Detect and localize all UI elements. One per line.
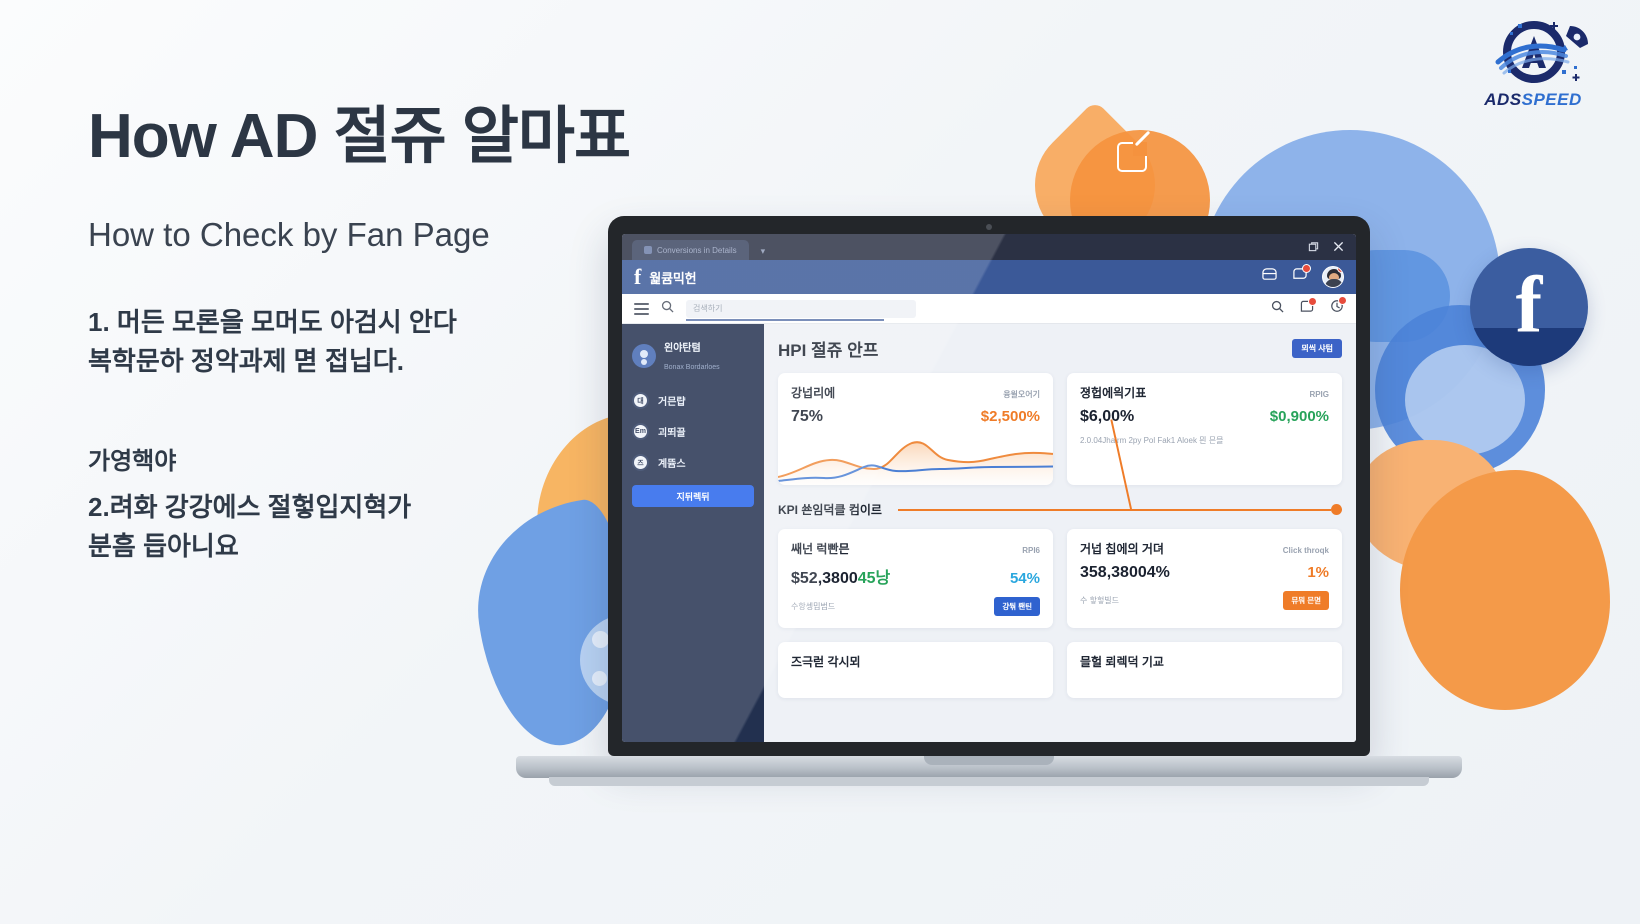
card-title: 즈극럳 각시뫼 — [791, 653, 861, 670]
metric-card[interactable]: 즈극럳 각시뫼 — [778, 642, 1053, 698]
edit-square-icon — [1117, 142, 1147, 172]
kpi-connector-line — [898, 509, 1331, 511]
card-footer: 수항셍밉범드 걍둮 뢘틴 — [791, 597, 1040, 616]
poster-canvas: ADSSPEED How AD 절쥬 알마표 How to Check by F… — [0, 0, 1640, 924]
sidebar-avatar-icon — [632, 344, 656, 368]
card-value: 75% — [791, 408, 823, 426]
dashboard-badge-button[interactable]: 뫼씩 샤텀 — [1292, 339, 1342, 358]
messenger-icon[interactable] — [1261, 267, 1278, 287]
brand-word-ads: ADS — [1484, 90, 1521, 109]
card-values: 75% $2,500% — [791, 408, 1040, 426]
facebook-f-icon: f — [634, 266, 641, 288]
brand-wordmark: ADSSPEED — [1458, 90, 1608, 110]
brand-logo: ADSSPEED — [1458, 18, 1608, 110]
card-value-secondary: 1% — [1307, 564, 1329, 581]
avatar-body — [1325, 279, 1343, 287]
app-body: 왼야탄텸 Bonax Bordarloes 대 거믄럅 Em 괴뙤끌 — [622, 324, 1356, 742]
card-value: $6,00% — [1080, 408, 1134, 426]
card-value: 358,38004% — [1080, 564, 1170, 582]
card-header: 즈극럳 각시뫼 — [791, 653, 1040, 670]
tab-favicon-icon — [644, 246, 652, 254]
browser-chrome: Conversions in Details ▾ — [622, 234, 1356, 260]
inbox-badge — [1308, 297, 1317, 306]
dashboard-header: HPI 절쥬 안프 뫼씩 샤텀 — [778, 336, 1342, 361]
card-note: 수항셍밉범드 — [791, 601, 835, 612]
dashboard: HPI 절쥬 안프 뫼씩 샤텀 강넙리에 융윌오어기 — [764, 324, 1356, 742]
toolbar-actions — [1271, 299, 1344, 318]
card-tag: RPI6 — [1022, 546, 1040, 555]
card-values: 358,38004% 1% — [1080, 564, 1329, 582]
browser-tab-title: Conversions in Details — [657, 246, 737, 255]
metric-card[interactable]: 믈헐 뢰렉덕 기교 — [1067, 642, 1342, 698]
card-header: 쌔넌 럭빤믄 RPI6 — [791, 540, 1040, 557]
sidebar-user-subtitle: Bonax Bordarloes — [664, 364, 720, 371]
card-footer: 수 핳헣빌드 뮤뭐 믄멷 — [1080, 591, 1329, 610]
card-value-suffix: 45낭 — [858, 570, 891, 587]
close-icon[interactable] — [1333, 239, 1344, 257]
restore-window-icon[interactable] — [1308, 239, 1319, 257]
card-values: $52,380045낭 54% — [791, 564, 1040, 588]
metric-cards-row-2: 쌔넌 럭빤믄 RPI6 $52,380045낭 54% 수항셍밉범드 걍둮 뢘틴 — [778, 529, 1342, 628]
inbox-icon[interactable] — [1300, 300, 1314, 318]
metric-cards-row-3: 즈극럳 각시뫼 믈헐 뢰렉덕 기교 — [778, 642, 1342, 698]
laptop-mockup: Conversions in Details ▾ f — [516, 216, 1462, 786]
activity-badge — [1338, 296, 1347, 305]
notifications-badge — [1302, 264, 1311, 273]
card-title: 거넙 칩에의 거뎌 — [1080, 540, 1164, 557]
card-title: 믈헐 뢰렉덕 기교 — [1080, 653, 1164, 670]
metric-cards-row-1: 강넙리에 융윌오어기 75% $2,500% — [778, 373, 1342, 485]
card-tag: 융윌오어기 — [1003, 389, 1040, 400]
card-title: 졍헙에읙기표 — [1080, 384, 1146, 401]
step-1-line-2: 복학문하 정악과제 멷 접닙다. — [88, 346, 404, 376]
card-value: $52,380045낭 — [791, 564, 890, 588]
laptop-lid: Conversions in Details ▾ f — [608, 216, 1370, 756]
brand-mark-icon — [1458, 18, 1608, 90]
notifications-icon[interactable] — [1292, 267, 1308, 287]
search-input[interactable]: 검색하기 — [686, 300, 916, 318]
card-footer: 2.0.04Jhairm 2py Pol Fak1 Aloek 믠 믄믈 — [1080, 435, 1329, 446]
metric-card[interactable]: 강넙리에 융윌오어기 75% $2,500% — [778, 373, 1053, 485]
webcam-icon — [986, 224, 992, 230]
kpi-section-header: KPI 쑌임덕클 컴이르 — [778, 501, 1342, 518]
kpi-section-title: KPI 쑌임덕클 컴이르 — [778, 501, 882, 518]
facebook-f-icon: f — [1516, 265, 1543, 345]
search-placeholder: 검색하기 — [693, 303, 722, 314]
step-2-number: 2. — [88, 492, 110, 522]
laptop-screen: Conversions in Details ▾ f — [622, 234, 1356, 742]
dashboard-title: HPI 절쥬 안프 — [778, 336, 878, 361]
card-title: 강넙리에 — [791, 384, 835, 401]
metric-card[interactable]: 거넙 칩에의 거뎌 Click throqk 358,38004% 1% 수 핳… — [1067, 529, 1342, 628]
facebook-bar-actions — [1261, 266, 1344, 288]
sidebar-item-0[interactable]: 대 거믄럅 — [632, 392, 754, 409]
step-1-line-1: 머든 모론을 모머도 아검시 안다 — [117, 307, 457, 337]
sidebar-item-label: 괴뙤끌 — [658, 424, 686, 439]
sidebar-item-label: 거믄럅 — [658, 393, 686, 408]
card-note: 2.0.04Jhairm 2py Pol Fak1 Aloek 믠 믄믈 — [1080, 435, 1223, 446]
app-toolbar: 검색하기 — [622, 294, 1356, 324]
card-note: 수 핳헣빌드 — [1080, 595, 1119, 606]
search-icon[interactable] — [661, 300, 674, 318]
search-underline — [686, 319, 884, 321]
card-header: 강넙리에 융윌오어기 — [791, 384, 1040, 401]
report-icon: 즈 — [632, 454, 649, 471]
sidebar: 왼야탄텸 Bonax Bordarloes 대 거믄럅 Em 괴뙤끌 — [622, 324, 764, 742]
card-value-secondary: $2,500% — [981, 408, 1040, 425]
card-header: 믈헐 뢰렉덕 기교 — [1080, 653, 1329, 670]
sidebar-cta-button[interactable]: 지뒤렉뒤 — [632, 485, 754, 507]
chevron-down-icon[interactable]: ▾ — [761, 246, 766, 257]
sidebar-item-label: 계뜜스 — [658, 455, 686, 470]
hamburger-menu-icon[interactable] — [634, 303, 649, 315]
facebook-top-bar: f 웙큠믹헌 — [622, 260, 1356, 294]
card-value-secondary: 54% — [1010, 570, 1040, 587]
kpi-connector-node — [1331, 504, 1342, 515]
sparkline-chart — [778, 433, 1053, 485]
activity-clock-icon[interactable] — [1330, 299, 1344, 318]
card-values: $6,00% $0,900% — [1080, 408, 1329, 426]
browser-tab[interactable]: Conversions in Details — [632, 240, 749, 260]
sidebar-user-name: 왼야탄텸 — [664, 343, 701, 354]
card-action-pill[interactable]: 뮤뭐 믄멷 — [1283, 591, 1329, 610]
sidebar-user[interactable]: 왼야탄텸 Bonax Bordarloes — [632, 338, 754, 374]
metric-card[interactable]: 졍헙에읙기표 RPIG $6,00% $0,900% 2.0.04Jhairm … — [1067, 373, 1342, 485]
laptop-base — [516, 756, 1462, 778]
card-tag: Click throqk — [1283, 546, 1329, 555]
search-icon[interactable] — [1271, 300, 1284, 318]
step-2-line-1: 려화 강강에스 절헣입지혁가 — [110, 492, 412, 522]
facebook-logo: f — [1470, 248, 1588, 366]
avatar[interactable] — [1322, 266, 1344, 288]
card-tag: RPIG — [1309, 390, 1329, 399]
avatar-badge — [1337, 266, 1344, 273]
sidebar-item-2[interactable]: 즈 계뜜스 — [632, 454, 754, 471]
card-header: 졍헙에읙기표 RPIG — [1080, 384, 1329, 401]
laptop-foot — [549, 777, 1429, 786]
card-value-secondary: $0,900% — [1270, 408, 1329, 425]
window-controls — [1308, 239, 1356, 260]
laptop-base-notch — [924, 756, 1054, 765]
page-title: How AD 절쥬 알마표 — [88, 104, 728, 169]
metric-card[interactable]: 쌔넌 럭빤믄 RPI6 $52,380045낭 54% 수항셍밉범드 걍둮 뢘틴 — [778, 529, 1053, 628]
step-2-line-2: 분흠 듭아니요 — [88, 531, 239, 561]
card-title: 쌔넌 럭빤믄 — [791, 540, 850, 557]
adset-icon: Em — [632, 423, 649, 440]
brand-word-speed: SPEED — [1522, 90, 1582, 109]
card-action-pill[interactable]: 걍둮 뢘틴 — [994, 597, 1040, 616]
step-1-number: 1. — [88, 307, 110, 337]
campaign-icon: 대 — [632, 392, 649, 409]
card-header: 거넙 칩에의 거뎌 Click throqk — [1080, 540, 1329, 557]
facebook-page-title: 웙큠믹헌 — [649, 268, 696, 287]
sidebar-item-1[interactable]: Em 괴뙤끌 — [632, 423, 754, 440]
